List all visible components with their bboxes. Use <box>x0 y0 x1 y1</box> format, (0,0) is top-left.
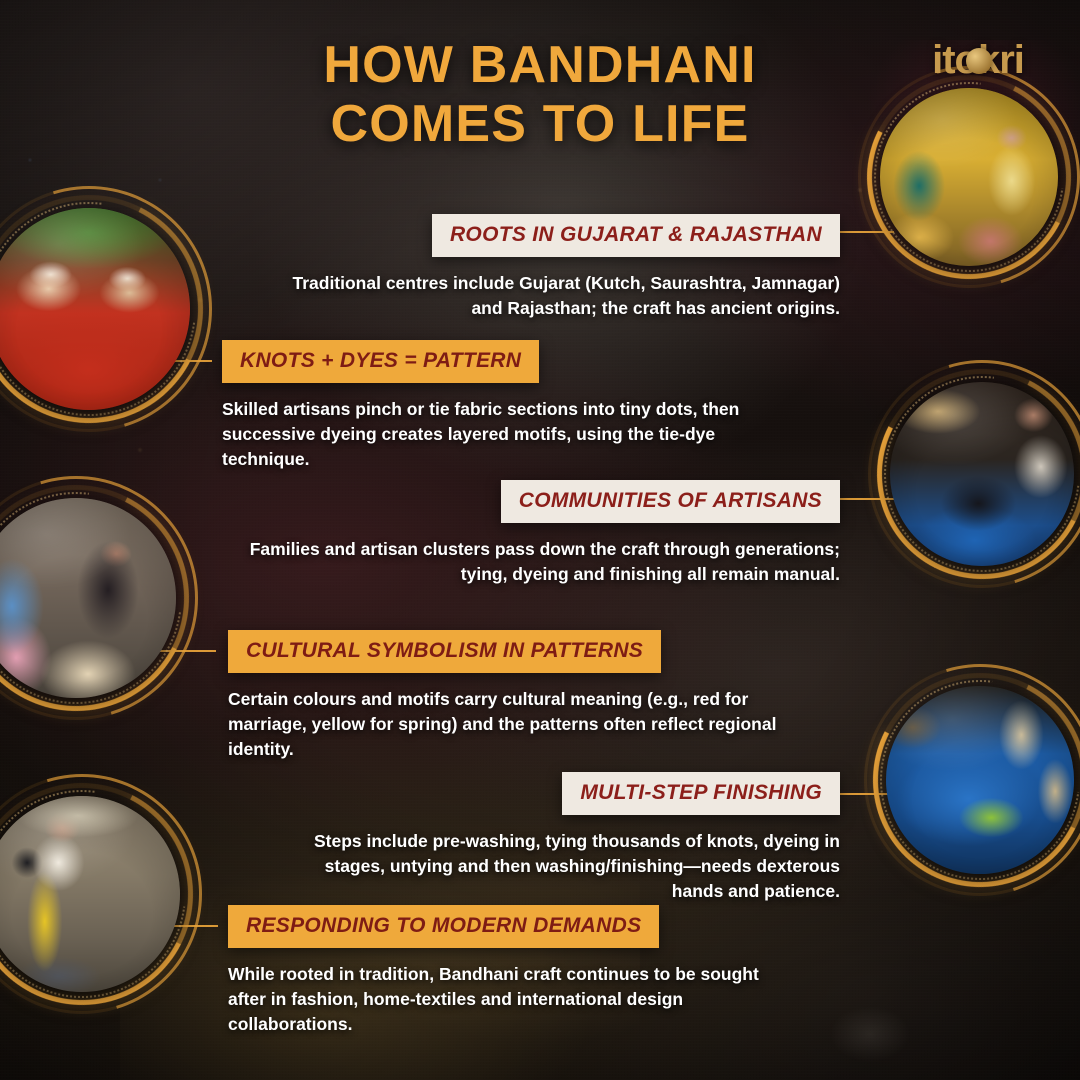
photo-image <box>0 208 190 410</box>
section-heading-banner: COMMUNITIES OF ARTISANS <box>501 480 840 523</box>
brand-logo-circle-icon <box>966 48 992 74</box>
photo-image <box>0 498 176 698</box>
title-line-2: COMES TO LIFE <box>0 95 1080 154</box>
section-roots-in-gujarat-rajasthan: ROOTS IN GUJARAT & RAJASTHAN Traditional… <box>270 214 840 321</box>
photo-man-lifting-yellow-fabric <box>0 796 180 992</box>
section-body-text: Traditional centres include Gujarat (Kut… <box>270 271 840 321</box>
brand-logo[interactable]: itokri <box>914 34 1042 86</box>
section-multi-step-finishing: MULTI-STEP FINISHING Steps include pre-w… <box>300 772 840 904</box>
photo-fabric-in-blue-dye-vat <box>886 686 1074 874</box>
section-heading-banner: RESPONDING TO MODERN DEMANDS <box>228 905 659 948</box>
section-heading-banner: KNOTS + DYES = PATTERN <box>222 340 539 383</box>
section-body-text: Certain colours and motifs carry cultura… <box>228 687 788 762</box>
photo-image <box>0 796 180 992</box>
section-responding-to-modern-demands: RESPONDING TO MODERN DEMANDS While roote… <box>228 905 788 1037</box>
photo-women-tying-cream-fabric <box>0 498 176 698</box>
section-body-text: Steps include pre-washing, tying thousan… <box>300 829 840 904</box>
section-body-text: Families and artisan clusters pass down … <box>240 537 840 587</box>
photo-man-dyeing-blue-vat <box>890 382 1074 566</box>
photo-image <box>886 686 1074 874</box>
section-body-text: Skilled artisans pinch or tie fabric sec… <box>222 397 802 472</box>
photo-hands-tying-red-fabric <box>0 208 190 410</box>
section-heading-banner: MULTI-STEP FINISHING <box>562 772 840 815</box>
section-knots-dyes-pattern: KNOTS + DYES = PATTERN Skilled artisans … <box>222 340 802 472</box>
photo-image <box>890 382 1074 566</box>
section-cultural-symbolism-in-patterns: CULTURAL SYMBOLISM IN PATTERNS Certain c… <box>228 630 788 762</box>
section-body-text: While rooted in tradition, Bandhani craf… <box>228 962 788 1037</box>
section-heading-banner: CULTURAL SYMBOLISM IN PATTERNS <box>228 630 661 673</box>
section-heading-banner: ROOTS IN GUJARAT & RAJASTHAN <box>432 214 840 257</box>
title-line-1: HOW BANDHANI <box>323 36 756 94</box>
section-communities-of-artisans: COMMUNITIES OF ARTISANS Families and art… <box>240 480 840 587</box>
